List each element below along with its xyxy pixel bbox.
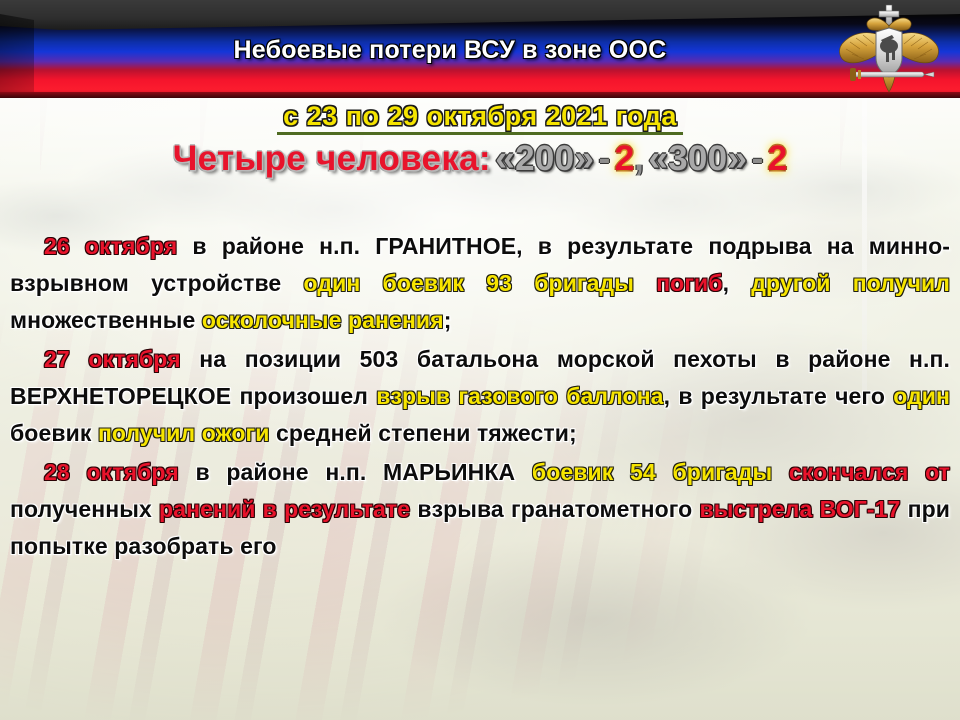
paragraph-26-october: 26 октября в районе н.п. ГРАНИТНОЕ, в ре… [10,228,950,339]
text-28-red-3: выстрела ВОГ-17 [699,496,900,522]
date-range: с 23 по 29 октября 2021 года [277,102,683,135]
code-200-label: «200» [495,139,594,178]
text-27-body-3: боевик [10,420,98,446]
killed-count-value: 2 [615,139,634,178]
text-28-body-3: взрыва гранатометного [410,496,699,522]
text-28-red-1: скончался от [789,459,950,485]
code-300-label: «300» [648,139,747,178]
text-27-body-4: средней степени тяжести; [269,420,576,446]
text-26-highlight-2: другой получил [751,270,950,296]
date-26-october: 26 октября [44,233,177,259]
casualty-count-label: Четыре человека: [173,139,491,178]
text-27-highlight-1: взрыв газового баллона [376,383,663,409]
text-28-highlight-1: боевик 54 бригады [532,459,789,485]
report-body: 26 октября в районе н.п. ГРАНИТНОЕ, в ре… [10,228,950,565]
text-26-killed: погиб [656,270,722,296]
date-27-october: 27 октября [44,346,181,372]
text-26-highlight-3: осколочные ранения [202,307,444,333]
banner-bottom-edge [0,92,960,98]
dash-separator-2: - [752,139,764,178]
text-26-body-4: ; [444,307,452,333]
text-27-body-2: , в результате чего [664,383,894,409]
headline-block: с 23 по 29 октября 2021 года Четыре чело… [0,102,960,178]
text-26-highlight-1: один боевик 93 бригады [304,270,657,296]
text-28-body-2: полученных [10,496,159,522]
dash-separator-1: - [599,139,611,178]
wounded-count-value: 2 [768,139,787,178]
double-headed-eagle-emblem [834,2,944,102]
text-26-body-2: , [723,270,752,296]
date-28-october: 28 октября [44,459,179,485]
text-27-highlight-2: один [893,383,950,409]
page-title: Небоевые потери ВСУ в зоне ООС [0,36,900,65]
casualty-count-line: Четыре человека: «200» - 2, «300» - 2 [0,141,960,178]
paragraph-27-october: 27 октября на позиции 503 батальона морс… [10,341,950,452]
text-26-body-3: множественные [10,307,202,333]
text-27-highlight-3: получил ожоги [98,420,270,446]
count-comma: , [634,139,644,178]
top-banner: Небоевые потери ВСУ в зоне ООС [0,0,960,96]
text-28-body-1: в районе н.п. МАРЬИНКА [179,459,532,485]
paragraph-28-october: 28 октября в районе н.п. МАРЬИНКА боевик… [10,454,950,565]
text-28-red-2: ранений в результате [159,496,410,522]
slide-root: Небоевые потери ВСУ в зоне ООС [0,0,960,720]
